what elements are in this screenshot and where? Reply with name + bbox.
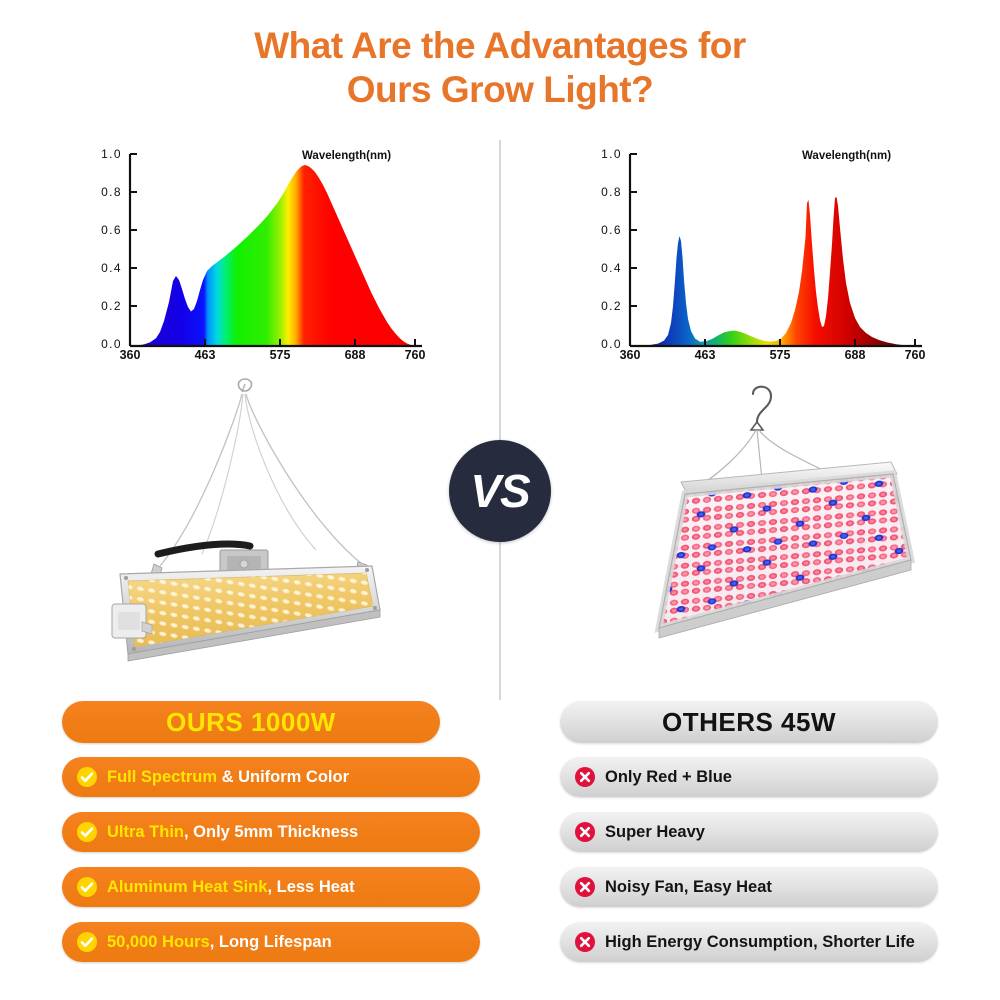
cross-icon (574, 821, 596, 843)
others-feature-row-2[interactable]: Super Heavy (560, 812, 938, 852)
ours-feature-row-4[interactable]: 50,000 Hours, Long Lifespan (62, 922, 480, 962)
x-tick-463: 463 (695, 348, 716, 362)
cross-icon (574, 931, 596, 953)
ours-feature-text-3: Aluminum Heat Sink, Less Heat (107, 878, 355, 897)
check-icon (76, 876, 98, 898)
others-feature-text-4: High Energy Consumption, Shorter Life (605, 933, 915, 952)
chart-axis-title-left: Wavelength(nm) (302, 150, 391, 162)
ours-header-label: OURS 1000W (166, 707, 336, 738)
x-tick-688: 688 (845, 348, 866, 362)
ours-feature-highlight-3: Aluminum Heat Sink (107, 878, 267, 896)
ours-feature-row-2[interactable]: Ultra Thin, Only 5mm Thickness (62, 812, 480, 852)
cross-icon (574, 766, 596, 788)
ours-feature-row-3[interactable]: Aluminum Heat Sink, Less Heat (62, 867, 480, 907)
ours-feature-rest-3: , Less Heat (267, 878, 354, 896)
others-feature-row-1[interactable]: Only Red + Blue (560, 757, 938, 797)
y-tick-0.2: 0.2 (101, 299, 122, 313)
infographic-canvas: What Are the Advantages for Ours Grow Li… (0, 0, 1000, 1000)
others-feature-row-4[interactable]: High Energy Consumption, Shorter Life (560, 922, 938, 962)
vs-badge: VS (449, 440, 551, 542)
check-icon (76, 821, 98, 843)
others-feature-text-1: Only Red + Blue (605, 768, 732, 787)
x-tick-760: 760 (905, 348, 926, 362)
ours-feature-text-4: 50,000 Hours, Long Lifespan (107, 933, 332, 952)
x-tick-575: 575 (270, 348, 291, 362)
ours-feature-rest-1: & Uniform Color (217, 768, 349, 786)
ours-header-pill: OURS 1000W (62, 701, 440, 743)
ours-feature-highlight-4: 50,000 Hours (107, 933, 210, 951)
check-icon (76, 766, 98, 788)
y-tick-0.4: 0.4 (601, 261, 622, 275)
check-icon (76, 931, 98, 953)
ours-feature-text-2: Ultra Thin, Only 5mm Thickness (107, 823, 358, 842)
page-title-line-2: Ours Grow Light? (0, 68, 1000, 112)
x-tick-688: 688 (345, 348, 366, 362)
y-tick-1.0: 1.0 (101, 147, 122, 161)
spectrum-chart-ours: Wavelength(nm) 1.0 0.8 0.6 0.4 0.2 0.0 (70, 140, 430, 365)
chart-axis-title-right: Wavelength(nm) (802, 150, 891, 162)
y-tick-0.2: 0.2 (601, 299, 622, 313)
cross-icon (574, 876, 596, 898)
ours-feature-text-1: Full Spectrum & Uniform Color (107, 768, 349, 787)
product-image-others (625, 382, 925, 668)
ours-feature-highlight-1: Full Spectrum (107, 768, 217, 786)
x-tick-463: 463 (195, 348, 216, 362)
y-tick-0.8: 0.8 (101, 185, 122, 199)
y-tick-0.6: 0.6 (601, 223, 622, 237)
y-tick-1.0: 1.0 (601, 147, 622, 161)
product-image-ours (90, 378, 400, 668)
page-title: What Are the Advantages for Ours Grow Li… (0, 24, 1000, 112)
ours-feature-row-1[interactable]: Full Spectrum & Uniform Color (62, 757, 480, 797)
others-feature-text-2: Super Heavy (605, 823, 705, 842)
others-header-pill: OTHERS 45W (560, 701, 938, 743)
spectrum-plot-left (70, 140, 430, 365)
x-tick-760: 760 (405, 348, 426, 362)
x-tick-575: 575 (770, 348, 791, 362)
quantum-board-grow-light-icon (90, 378, 400, 668)
y-tick-0.8: 0.8 (601, 185, 622, 199)
panel-grow-light-icon (625, 382, 925, 668)
ours-feature-highlight-2: Ultra Thin (107, 823, 184, 841)
others-feature-row-3[interactable]: Noisy Fan, Easy Heat (560, 867, 938, 907)
x-tick-360: 360 (120, 348, 141, 362)
ours-feature-rest-4: , Long Lifespan (210, 933, 332, 951)
others-feature-text-3: Noisy Fan, Easy Heat (605, 878, 772, 897)
spectrum-chart-others: Wavelength(nm) 1.0 0.8 0.6 0.4 0.2 0.0 (570, 140, 930, 365)
vs-badge-label: VS (470, 464, 529, 518)
page-title-line-1: What Are the Advantages for (0, 24, 1000, 68)
ours-feature-rest-2: , Only 5mm Thickness (184, 823, 358, 841)
y-tick-0.6: 0.6 (101, 223, 122, 237)
y-tick-0.4: 0.4 (101, 261, 122, 275)
x-tick-360: 360 (620, 348, 641, 362)
spectrum-plot-right (570, 140, 930, 365)
others-header-label: OTHERS 45W (662, 707, 836, 738)
vertical-divider (499, 140, 501, 700)
